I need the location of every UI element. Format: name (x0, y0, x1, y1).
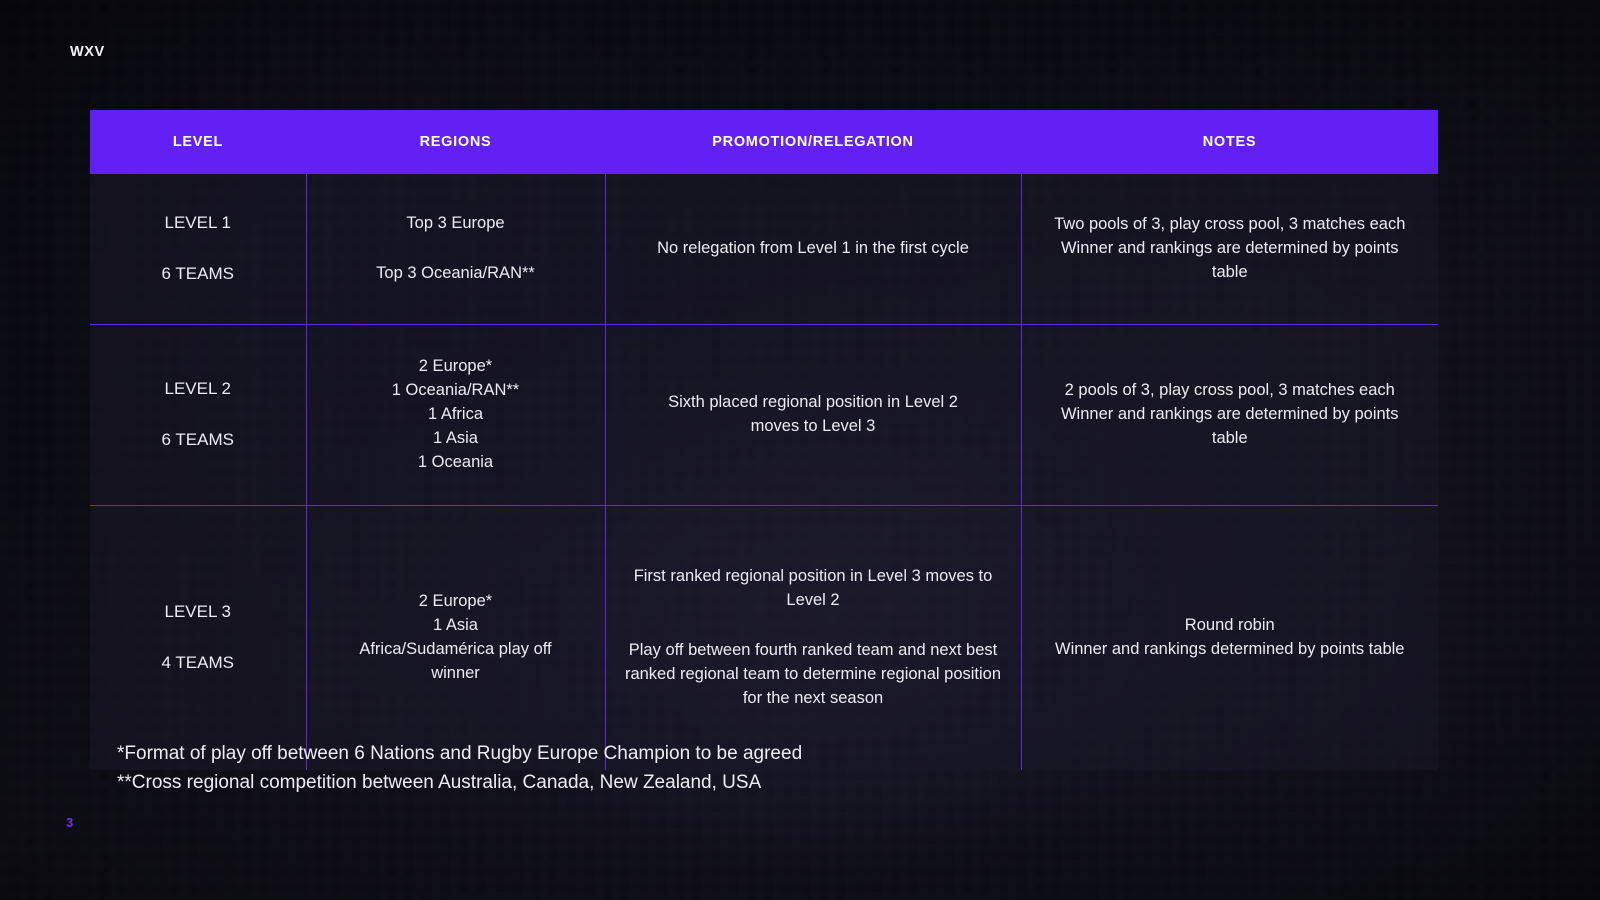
notes-line: table (1036, 261, 1425, 285)
region-line: 1 Africa (321, 403, 591, 427)
cell-level-1: LEVEL 1 6 TEAMS (90, 174, 306, 325)
promotion-paragraph: Play off between fourth ranked team and … (620, 639, 1007, 711)
cell-promotion-3: First ranked regional position in Level … (605, 506, 1021, 771)
notes-line: Winner and rankings are determined by po… (1036, 403, 1425, 427)
table-row: LEVEL 3 4 TEAMS 2 Europe* 1 Asia Africa/… (90, 506, 1438, 771)
cell-promotion-1: No relegation from Level 1 in the first … (605, 174, 1021, 325)
notes-line: Winner and rankings determined by points… (1036, 638, 1425, 662)
region-line: winner (321, 662, 591, 686)
promotion-line: Sixth placed regional position in Level … (620, 391, 1007, 415)
footnotes: *Format of play off between 6 Nations an… (117, 740, 802, 797)
table-head: LEVEL REGIONS PROMOTION/RELEGATION NOTES (90, 110, 1438, 174)
region-line: 1 Asia (321, 427, 591, 451)
cell-notes-2: 2 pools of 3, play cross pool, 3 matches… (1021, 325, 1438, 506)
footnote-single-asterisk: *Format of play off between 6 Nations an… (117, 740, 802, 769)
promotion-line: First ranked regional position in Level … (634, 567, 921, 585)
cell-level-3: LEVEL 3 4 TEAMS (90, 506, 306, 771)
column-header-notes: NOTES (1021, 110, 1438, 174)
notes-line: Round robin (1036, 614, 1425, 638)
level-teams: 6 TEAMS (104, 262, 292, 287)
cell-level-2: LEVEL 2 6 TEAMS (90, 325, 306, 506)
table-row: LEVEL 1 6 TEAMS Top 3 Europe Top 3 Ocean… (90, 174, 1438, 325)
table-body: LEVEL 1 6 TEAMS Top 3 Europe Top 3 Ocean… (90, 174, 1438, 770)
notes-line: table (1036, 427, 1425, 451)
region-line: 1 Oceania (321, 451, 591, 475)
region-line: 2 Europe* (321, 590, 591, 614)
cell-regions-2: 2 Europe* 1 Oceania/RAN** 1 Africa 1 Asi… (306, 325, 605, 506)
table-header-row: LEVEL REGIONS PROMOTION/RELEGATION NOTES (90, 110, 1438, 174)
notes-line: Two pools of 3, play cross pool, 3 match… (1036, 213, 1425, 237)
notes-line: Winner and rankings are determined by po… (1036, 237, 1425, 261)
notes-line: 2 pools of 3, play cross pool, 3 matches… (1036, 379, 1425, 403)
column-header-promotion-relegation: PROMOTION/RELEGATION (605, 110, 1021, 174)
table: LEVEL REGIONS PROMOTION/RELEGATION NOTES… (90, 110, 1438, 770)
level-name: LEVEL 3 (104, 600, 292, 625)
brand-logo-wxv: WXV (70, 44, 105, 60)
level-teams: 4 TEAMS (104, 651, 292, 676)
region-line: 1 Oceania/RAN** (321, 379, 591, 403)
promotion-line: moves to Level 3 (620, 415, 1007, 439)
wxv-structure-table: LEVEL REGIONS PROMOTION/RELEGATION NOTES… (90, 110, 1438, 770)
table-row: LEVEL 2 6 TEAMS 2 Europe* 1 Oceania/RAN*… (90, 325, 1438, 506)
promotion-line: Play off between fourth ranked team and (629, 641, 926, 659)
promotion-line: No relegation from Level 1 in the first … (620, 237, 1007, 261)
cell-notes-1: Two pools of 3, play cross pool, 3 match… (1021, 174, 1438, 325)
slide-canvas: WXV LEVEL REGIONS PROMOTION/RELEGATION N… (0, 0, 1600, 900)
column-header-regions: REGIONS (306, 110, 605, 174)
level-name: LEVEL 1 (104, 211, 292, 236)
region-line: 2 Europe* (321, 355, 591, 379)
cell-promotion-2: Sixth placed regional position in Level … (605, 325, 1021, 506)
cell-notes-3: Round robin Winner and rankings determin… (1021, 506, 1438, 771)
region-line: Top 3 Europe (321, 212, 591, 236)
footnote-double-asterisk: **Cross regional competition between Aus… (117, 769, 802, 798)
level-teams: 6 TEAMS (104, 428, 292, 453)
page-number: 3 (66, 815, 73, 830)
region-line: Africa/Sudamérica play off (321, 638, 591, 662)
level-name: LEVEL 2 (104, 377, 292, 402)
column-header-level: LEVEL (90, 110, 306, 174)
region-line: 1 Asia (321, 614, 591, 638)
region-line: Top 3 Oceania/RAN** (321, 262, 591, 286)
cell-regions-3: 2 Europe* 1 Asia Africa/Sudamérica play … (306, 506, 605, 771)
promotion-paragraph: First ranked regional position in Level … (620, 565, 1007, 613)
cell-regions-1: Top 3 Europe Top 3 Oceania/RAN** (306, 174, 605, 325)
